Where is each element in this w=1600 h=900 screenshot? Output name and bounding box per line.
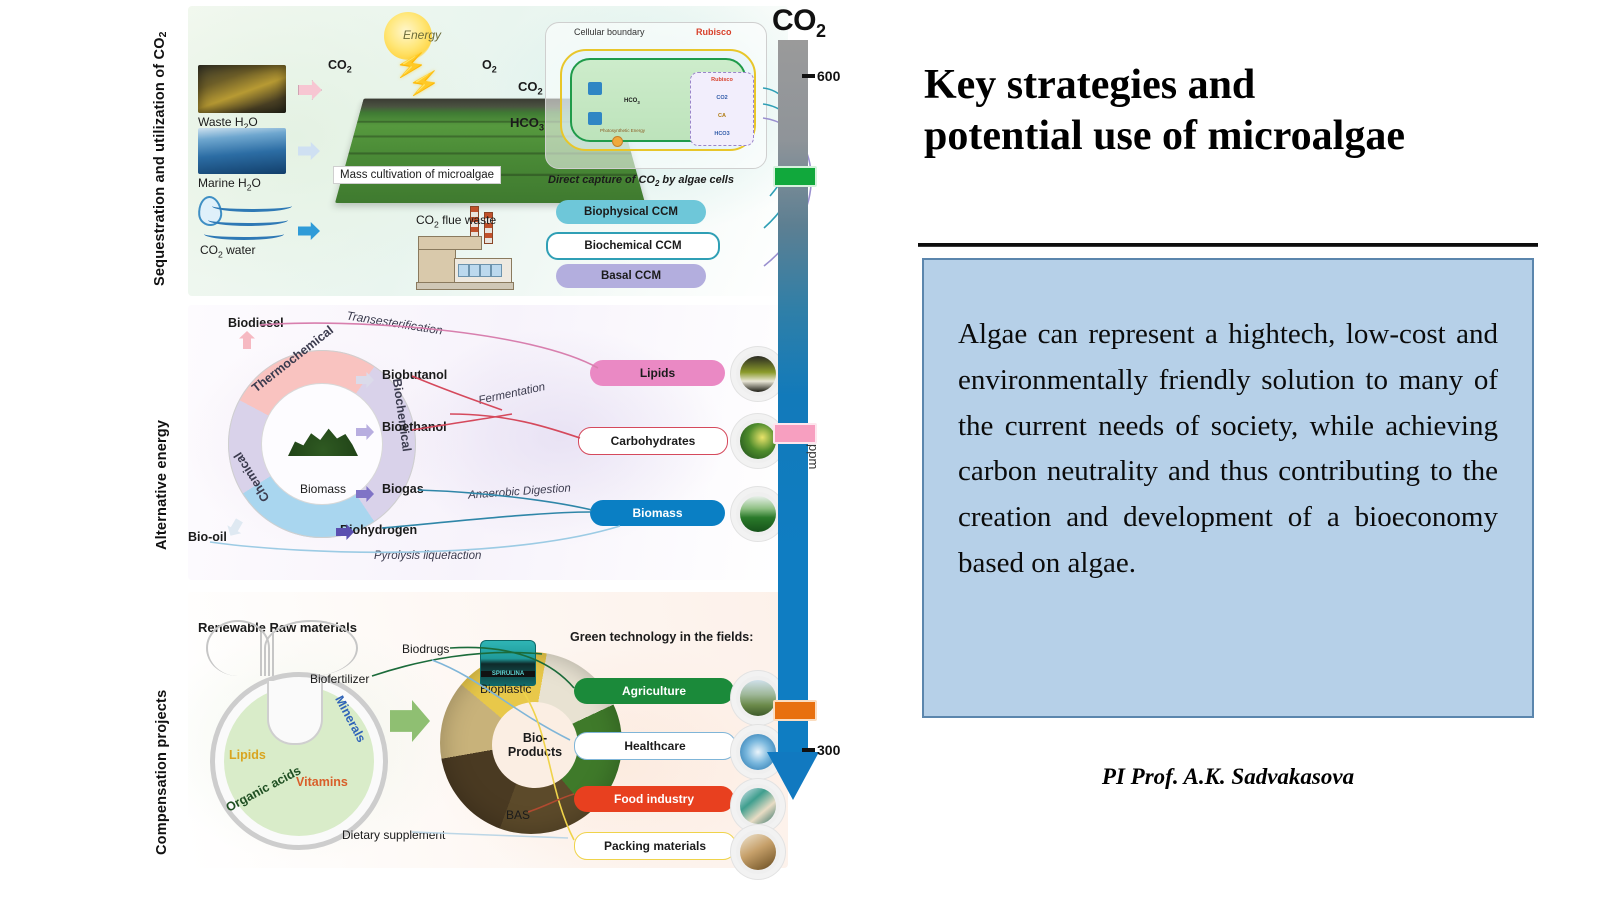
cell-hco3-label: HCO3 [510, 115, 544, 133]
node-bioethanol: Bioethanol [382, 420, 447, 434]
infographic-figure: Sequestration and utilization of CO2 Alt… [150, 0, 836, 872]
flue-waste-label: CO2 flue waste [416, 213, 496, 229]
section-label-compensation-projects: Compensation projects [154, 605, 170, 855]
lipids-thumbnail [736, 352, 780, 396]
cell-component-lipids: Lipids [229, 748, 266, 762]
rubisco-box: Rubisco CO2 CA HCO3 [690, 72, 754, 146]
output-dietary-supplement: Dietary supplement [342, 828, 445, 842]
scale-tick-600: 600 [802, 68, 840, 84]
spirulina-jar-icon: SPIRULINA [480, 640, 536, 686]
node-biodiesel: Biodiesel [228, 316, 284, 330]
co2-concentration-scale: CO2 600 300 ppm [778, 40, 808, 800]
cellular-boundary-label: Cellular boundary [574, 27, 645, 37]
cell-stalk [260, 632, 274, 676]
biomass-thumbnail [736, 492, 780, 536]
co2-water-label: CO2 water [200, 243, 255, 259]
o2-output-label: O2 [482, 58, 497, 75]
summary-quote-box: Algae can represent a hightech, low-cost… [922, 258, 1534, 718]
wave-icon [204, 228, 284, 240]
scale-band-pink [773, 423, 817, 444]
rubisco-label: Rubisco [696, 27, 732, 37]
product-carbohydrates[interactable]: Carbohydrates [578, 427, 728, 455]
pill-basal-ccm[interactable]: Basal CCM [556, 264, 706, 288]
output-biodrugs: Biodrugs [402, 642, 449, 656]
scale-band-green [773, 166, 817, 187]
node-biobutanol: Biobutanol [382, 368, 447, 382]
cell-component-vitamins: Vitamins [296, 775, 348, 789]
bio-products-label: Bio- Products [492, 702, 578, 788]
scale-band-orange [773, 700, 817, 721]
process-pyrolysis-liquefaction: Pyrolysis liquefaction [374, 550, 481, 562]
energy-label: Energy [403, 28, 441, 42]
section-label-alternative-energy: Alternative energy [154, 330, 170, 550]
product-biomass[interactable]: Biomass [590, 500, 725, 526]
marine-water-photo [198, 128, 286, 174]
node-biogas: Biogas [382, 482, 424, 496]
wave-icon [212, 200, 292, 212]
wave-icon [208, 214, 288, 226]
horizontal-divider [918, 243, 1538, 247]
scale-unit-label: ppm [806, 444, 821, 469]
field-packing-materials[interactable]: Packing materials [574, 832, 736, 860]
output-biofertilizer: Biofertilizer [310, 672, 369, 686]
field-healthcare[interactable]: Healthcare [574, 732, 736, 760]
field-agriculture[interactable]: Agriculture [574, 678, 734, 704]
page-title: Key strategies and potential use of micr… [924, 60, 1544, 162]
node-biooil: Bio-oil [188, 530, 227, 544]
product-lipids[interactable]: Lipids [590, 360, 725, 386]
scale-gradient-bar [778, 40, 808, 752]
cell-co2-label: CO2 [518, 79, 543, 97]
factory-icon [418, 232, 512, 290]
title-line-1: Key strategies and [924, 60, 1544, 111]
section-label-sequestration: Sequestration and utilization of CO2 [152, 6, 169, 286]
right-content-panel: Key strategies and potential use of micr… [890, 0, 1600, 900]
inner-hco3-label: HCO3 [624, 98, 640, 105]
photosynthetic-energy-label: Photosynthetic Energy [600, 128, 645, 133]
biomass-icon [288, 418, 358, 456]
direct-capture-caption: Direct capture of CO2 by algae cells [548, 174, 734, 188]
hco3-channel-icon [588, 112, 602, 125]
algae-cell-diagram: Cellular boundary Rubisco HCO3 Photosynt… [545, 22, 767, 169]
slide-root: Sequestration and utilization of CO2 Alt… [0, 0, 1600, 900]
waste-water-photo [198, 65, 286, 113]
output-bas: BAS [506, 808, 530, 822]
pill-biochemical-ccm[interactable]: Biochemical CCM [546, 232, 720, 260]
co2-scale-title: CO2 [772, 4, 826, 42]
marine-water-label: Marine H2O [198, 176, 261, 192]
packing-materials-thumbnail [736, 830, 780, 874]
title-line-2: potential use of microalgae [924, 111, 1544, 162]
lightning-bolt-icon: ⚡ [406, 67, 442, 98]
pond-caption: Mass cultivation of microalgae [333, 166, 501, 184]
output-bioplastic: Bioplastic [480, 682, 531, 696]
food-industry-thumbnail [736, 784, 780, 828]
co2-channel-icon [588, 82, 602, 95]
pi-credit: PI Prof. A.K. Sadvakasova [922, 764, 1534, 790]
scale-tick-300: 300 [802, 742, 840, 758]
ring-center-label: Biomass [300, 482, 346, 496]
field-food-industry[interactable]: Food industry [574, 786, 734, 812]
green-technology-heading: Green technology in the fields: [570, 630, 753, 644]
cell-loop-right [264, 620, 358, 676]
pill-biophysical-ccm[interactable]: Biophysical CCM [556, 200, 706, 224]
co2-input-label: CO2 [328, 58, 352, 75]
